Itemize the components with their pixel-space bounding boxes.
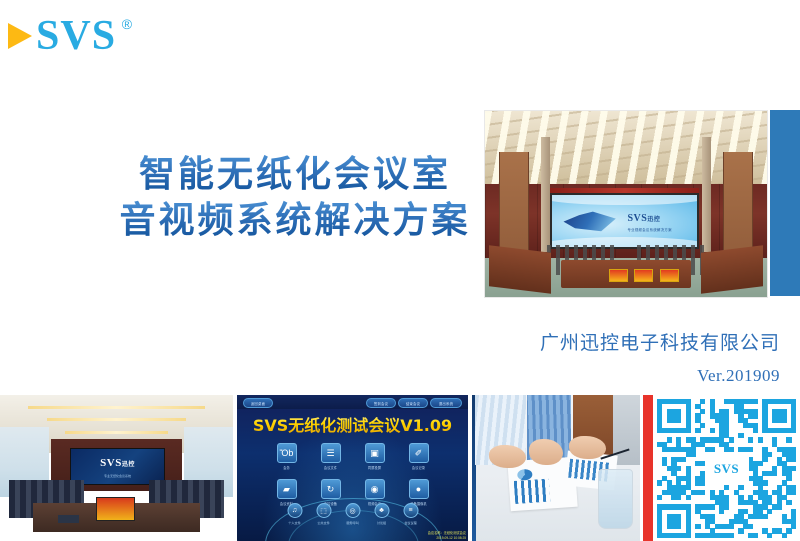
hero-screen-brand-cn: 迅控 [647,217,660,223]
strip-qr-panel: SVS [643,395,800,541]
hero-speaker-right [702,137,711,252]
document-icon: ☰ [321,443,341,463]
clipboard-icon: Ὄb [277,443,297,463]
photo1-device [58,515,79,524]
photo1-light-3 [65,431,168,433]
ui-background: 返回桌面 签到会议 结束会议 退出系统 SVS无纸化测试会议V1.09 Ὄb 会… [237,395,468,541]
ui-app-item[interactable]: Ὄb 会务 [270,443,304,475]
qr-center-logo-text: SVS [714,461,739,477]
bottom-image-strip: SVS迅控 专业无纸化会议系统 返回桌面 签到会议 结束会议 退出系统 [0,395,800,541]
title-line-1: 智能无纸化会议室 [100,152,490,198]
ui-dock-item[interactable]: ♣ 讨论组 [374,503,389,525]
music-icon: ♫ [287,503,302,518]
agenda-icon: ≡ [403,503,418,518]
ui-app-label: 会议记录 [412,465,425,470]
refresh-icon: ↻ [321,479,341,499]
hero-table-flag-3 [660,269,679,282]
photo1-screen-brand-text: SVS [100,457,122,469]
brand-logo: SVS ® [8,14,116,58]
photo3-hand-3 [569,436,606,459]
ui-app-item[interactable]: ▣ 同屏投屏 [358,443,392,475]
hero-side-desk-right [701,245,763,294]
monitor-icon: ▣ [365,443,385,463]
slide-root: SVS ® 智能无纸化会议室 音视频系统解决方案 SVS迅控 专业视 [0,0,800,541]
hero-screen-brand-text: SVS [627,213,647,224]
right-accent-bar [770,110,800,296]
note-icon: ✐ [409,443,429,463]
ui-top-bar: 返回桌面 签到会议 结束会议 退出系统 [237,395,468,409]
folder-icon: ▰ [277,479,297,499]
photo1-screen-brand-cn: 迅控 [122,462,135,468]
hero-screen-subtitle: 专业视频会议系统解决方案 [627,227,671,232]
photo1-screen-subtitle: 专业无纸化会议系统 [104,474,131,478]
title-line-2: 音视频系统解决方案 [100,198,490,244]
ui-dock-item[interactable]: ≡ 会议议程 [403,503,418,525]
ui-dock-label: 服务呼叫 [346,520,358,525]
company-block: 广州迅控电子科技有限公司 Ver.201909 [540,330,780,386]
photo3-bar-chart [514,479,550,504]
qr-center-logo: SVS [705,453,749,485]
ui-status-bar: 会议名称：无纸化测试会议 2019-09-12 10:08:25 [428,531,466,540]
ui-title: SVS无纸化测试会议V1.09 [237,412,468,436]
group-icon: ♣ [374,503,389,518]
version-label: Ver.201909 [540,366,780,386]
strip-photo-meeting-room: SVS迅控 专业无纸化会议系统 [0,395,233,541]
photo3-person-4 [613,395,640,465]
ui-dock-item[interactable]: ◎ 服务呼叫 [345,503,360,525]
ui-app-label: 会务 [283,465,290,470]
hero-side-desk-left [489,245,551,294]
ui-app-item[interactable]: ☰ 会议文件 [314,443,348,475]
strip-photo-business-discussion [472,395,640,541]
ui-signin-meeting-button[interactable]: 签到会议 [366,398,396,408]
red-accent-bar [643,395,653,541]
photo3-hand-2 [529,439,563,465]
photo3-water-glass [598,469,634,529]
file-icon: ⬚ [316,503,331,518]
hero-screen-brand: SVS迅控 [627,213,660,224]
photo1-light-1 [28,406,205,410]
ui-back-to-desktop-button[interactable]: 返回桌面 [243,398,273,408]
play-triangle-icon [8,23,32,49]
ui-status-line-1: 会议名称：无纸化测试会议 [428,531,466,536]
photo1-light-2 [47,418,187,421]
ui-dock-item[interactable]: ♫ 个人文件 [287,503,302,525]
hero-wave-top [552,195,697,205]
hero-table-flag-1 [609,269,628,282]
brand-logo-text: SVS [36,15,116,57]
registered-trademark-icon: ® [122,16,132,32]
photo3-background [472,395,640,541]
ui-exit-system-button[interactable]: 退出系统 [430,398,462,408]
photo1-terminal [96,497,135,521]
strip-paperless-ui: 返回桌面 签到会议 结束会议 退出系统 SVS无纸化测试会议V1.09 Ὄb 会… [237,395,468,541]
hero-led-screen: SVS迅控 专业视频会议系统解决方案 [550,193,699,249]
ui-dock-label: 个人文件 [288,520,300,525]
ui-status-line-2: 2019-09-12 10:08:25 [428,536,466,541]
ui-dock-label: 会议议程 [404,520,416,525]
hero-graphic-shape [563,210,615,232]
video-icon: ● [409,479,429,499]
hero-led-screen-content: SVS迅控 专业视频会议系统解决方案 [552,195,697,247]
hero-table-flag-2 [634,269,653,282]
ui-dock-label: 公共文件 [317,520,329,525]
photo3-hand-1 [489,445,526,468]
hero-conference-room-image: SVS迅控 专业视频会议系统解决方案 [484,110,768,298]
ui-dock-label: 讨论组 [377,520,386,525]
ui-app-label: 同屏投屏 [368,465,381,470]
ui-app-label: 会议文件 [324,465,337,470]
ui-app-grid: Ὄb 会务 ☰ 会议文件 ▣ 同屏投屏 ✐ 会议记录 [270,443,436,511]
ui-app-item[interactable]: ✐ 会议记录 [402,443,436,475]
photo1-screen-brand: SVS迅控 [100,457,135,469]
ui-end-meeting-button[interactable]: 结束会议 [398,398,428,408]
bell-icon: ◎ [345,503,360,518]
qr-code[interactable]: SVS [657,399,796,538]
ui-dock: ♫ 个人文件 ⬚ 公共文件 ◎ 服务呼叫 ♣ 讨论组 [287,503,418,525]
page-title: 智能无纸化会议室 音视频系统解决方案 [100,152,490,244]
ui-dock-item[interactable]: ⬚ 公共文件 [316,503,331,525]
camera-icon: ◉ [365,479,385,499]
company-name: 广州迅控电子科技有限公司 [540,330,780,356]
